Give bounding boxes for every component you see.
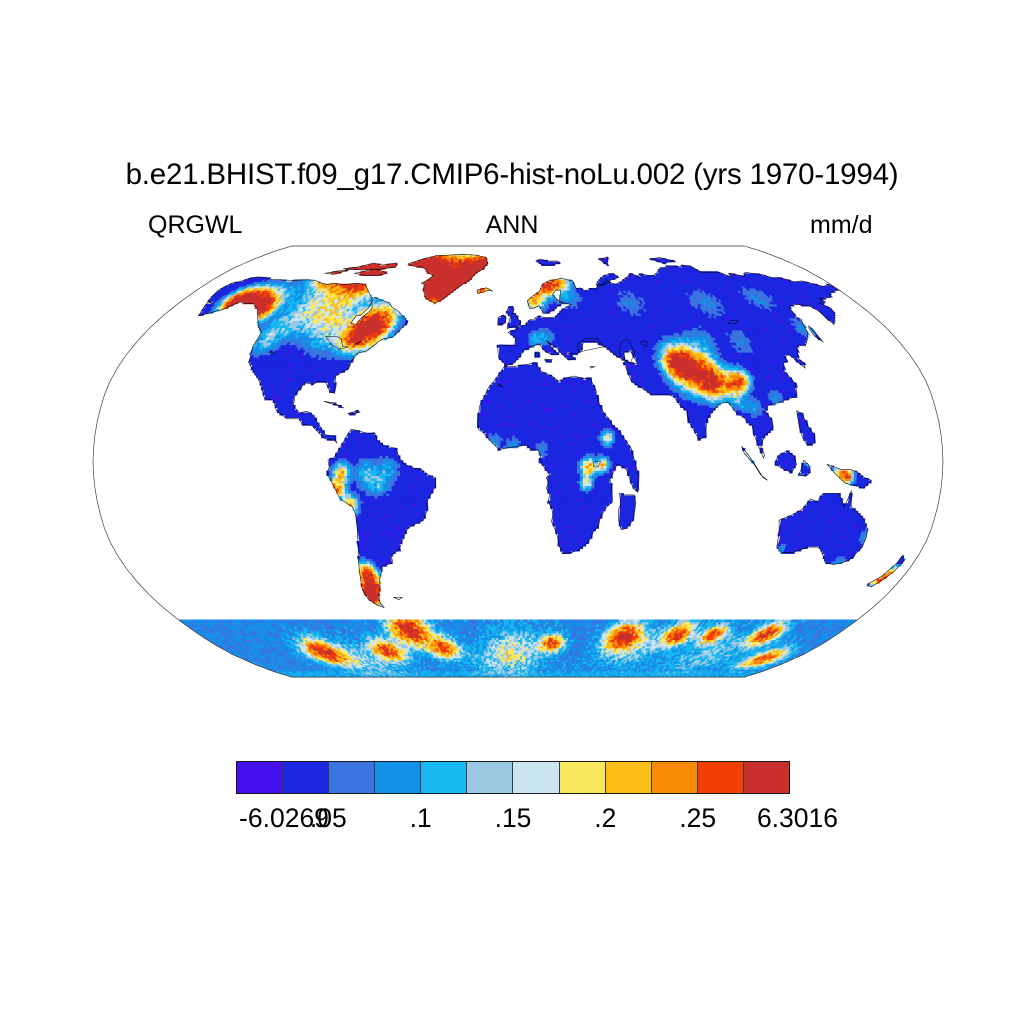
colorbar-segment-12 (744, 762, 789, 793)
colorbar-tick-3: .15 (495, 802, 532, 834)
colorbar-segment-2 (283, 762, 329, 793)
colorbar-segment-3 (329, 762, 375, 793)
colorbar-segment-1 (237, 762, 283, 793)
units-label: mm/d (810, 210, 873, 240)
colorbar-segment-5 (421, 762, 467, 793)
colorbar-tick-6: 6.3016 (757, 802, 838, 834)
colorbar-tick-2: .1 (410, 802, 432, 834)
colorbar-segment-11 (698, 762, 744, 793)
colorbar-segment-8 (560, 762, 606, 793)
colorbar-tick-labels: -6.0269.05.1.15.2.256.3016 (150, 802, 910, 836)
colorbar-segment-7 (513, 762, 559, 793)
colorbar-tick-5: .25 (679, 802, 716, 834)
robinson-map-plot (88, 238, 948, 724)
colorbar-segment-10 (652, 762, 698, 793)
colorbar-tick-1: .05 (310, 802, 347, 834)
colorbar-segment-4 (375, 762, 421, 793)
figure-root: b.e21.BHIST.f09_g17.CMIP6-hist-noLu.002 … (0, 0, 1024, 1024)
colorbar-segments (236, 761, 790, 794)
colorbar-tick-4: .2 (594, 802, 616, 834)
colorbar-segment-9 (606, 762, 652, 793)
colorbar-segment-6 (467, 762, 513, 793)
colorbar (236, 761, 790, 794)
page-title: b.e21.BHIST.f09_g17.CMIP6-hist-noLu.002 … (0, 158, 1024, 192)
